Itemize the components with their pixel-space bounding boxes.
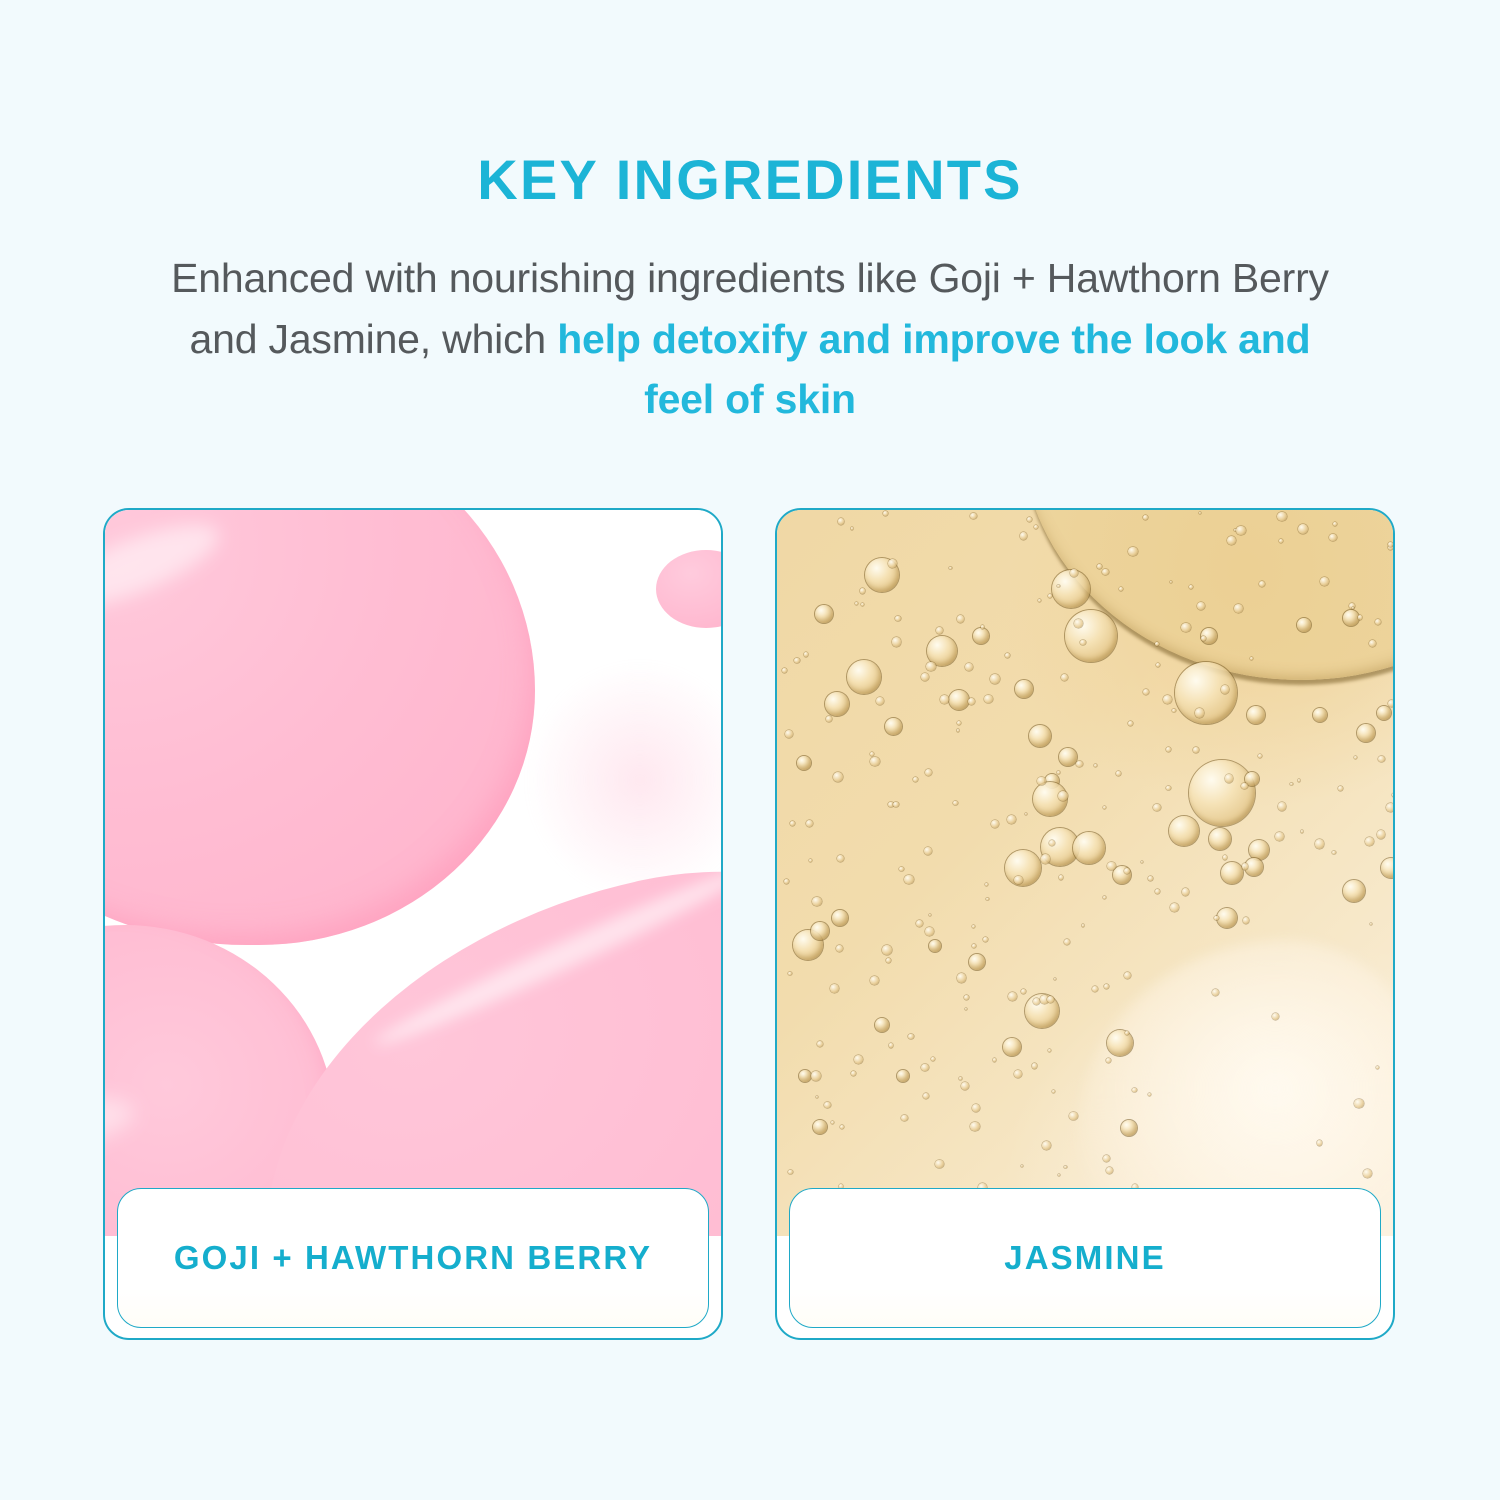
oil-bubble-small bbox=[1354, 756, 1357, 759]
oil-bubble-small bbox=[940, 695, 949, 704]
oil-bubble-small bbox=[831, 1121, 834, 1124]
ingredient-card-jasmine[interactable]: JASMINE bbox=[775, 508, 1395, 1340]
oil-bubble-small bbox=[921, 673, 929, 681]
oil-bubble-small bbox=[1365, 837, 1374, 846]
subtitle-highlight-text: help detoxify and improve the look and f… bbox=[557, 316, 1310, 423]
oil-bubble-small bbox=[861, 603, 865, 607]
oil-bubble-small bbox=[1025, 813, 1027, 815]
oil-bubble-small bbox=[882, 945, 892, 955]
oil-bubble bbox=[825, 692, 849, 716]
oil-bubble-small bbox=[1156, 663, 1160, 667]
oil-bubble-small bbox=[1103, 896, 1106, 899]
oil-bubble-small bbox=[1128, 547, 1138, 557]
oil-bubble-small bbox=[1104, 984, 1109, 989]
oil-bubble-small bbox=[972, 944, 976, 948]
oil-bubble-small bbox=[993, 1058, 997, 1062]
ingredient-image-goji-hawthorn-berry bbox=[105, 510, 721, 1236]
oil-bubble-small bbox=[1128, 721, 1133, 726]
oil-bubble-small bbox=[957, 721, 962, 726]
oil-bubble-small bbox=[1386, 803, 1393, 812]
oil-bubble-small bbox=[1014, 876, 1022, 884]
oil-bubble-small bbox=[1370, 923, 1372, 925]
oil-bubble-small bbox=[1005, 653, 1010, 658]
oil-bubble-small bbox=[925, 927, 934, 936]
oil-bubble-small bbox=[970, 1122, 979, 1131]
oil-bubble-small bbox=[1153, 804, 1161, 812]
oil-bubble bbox=[797, 756, 811, 770]
oil-bubble-small bbox=[817, 1041, 824, 1048]
oil-bubble-small bbox=[1064, 1166, 1067, 1169]
oil-bubble-small bbox=[1052, 1090, 1055, 1093]
oil-bubble-small bbox=[957, 615, 964, 622]
oil-bubble-small bbox=[837, 855, 844, 862]
oil-bubble-small bbox=[957, 729, 960, 732]
oil-bubble-small bbox=[1298, 524, 1308, 534]
oil-bubble bbox=[832, 910, 848, 926]
oil-bubble-small bbox=[1125, 1031, 1129, 1035]
oil-bubble-small bbox=[1377, 830, 1385, 838]
oil-bubble-small bbox=[1008, 992, 1017, 1001]
oil-bubble-small bbox=[1214, 916, 1218, 920]
oil-bubble-small bbox=[1020, 532, 1027, 539]
oil-bubble bbox=[815, 605, 833, 623]
oil-bubble-small bbox=[816, 1096, 818, 1098]
oil-bubble bbox=[847, 660, 881, 694]
oil-bubble-small bbox=[809, 859, 812, 862]
oil-bubble-small bbox=[1027, 517, 1032, 522]
oil-bubble-small bbox=[1048, 1049, 1051, 1052]
oil-bubble bbox=[1209, 828, 1231, 850]
oil-bubble-small bbox=[812, 897, 822, 907]
oil-bubble-small bbox=[826, 716, 832, 722]
oil-bubble-small bbox=[1074, 619, 1083, 628]
oil-bubble-small bbox=[961, 1082, 969, 1090]
oil-bubble-small bbox=[926, 662, 936, 672]
oil-bubble-small bbox=[1166, 747, 1171, 752]
oil-bubble-small bbox=[1388, 542, 1393, 547]
oil-bubble-small bbox=[870, 976, 879, 985]
oil-bubble-small bbox=[1352, 607, 1354, 609]
oil-bubble-small bbox=[806, 820, 814, 828]
oil-bubble-small bbox=[970, 513, 976, 519]
oil-bubble-small bbox=[908, 1034, 914, 1040]
oil-bubble-small bbox=[790, 821, 795, 826]
oil-bubble-small bbox=[1227, 536, 1236, 545]
oil-bubble-small bbox=[916, 920, 923, 927]
oil-bubble bbox=[1343, 610, 1359, 626]
oil-bubble-small bbox=[983, 937, 988, 942]
oil-bubble-small bbox=[990, 674, 1000, 684]
oil-bubble-small bbox=[1172, 709, 1175, 712]
oil-bubble-small bbox=[949, 567, 952, 570]
oil-bubble-small bbox=[964, 995, 969, 1000]
oil-bubble-small bbox=[870, 757, 879, 766]
oil-bubble-small bbox=[788, 972, 792, 976]
oil-bubble bbox=[973, 628, 989, 644]
oil-bubble-small bbox=[1155, 889, 1160, 894]
oil-bubble-small bbox=[965, 1008, 967, 1010]
oil-bubble bbox=[969, 954, 985, 970]
oil-bubble-small bbox=[1212, 989, 1219, 996]
page-title: KEY INGREDIENTS bbox=[0, 0, 1500, 208]
oil-bubble bbox=[799, 1070, 811, 1082]
oil-bubble-small bbox=[895, 616, 901, 622]
oil-bubble bbox=[1029, 725, 1051, 747]
oil-bubble-small bbox=[1221, 685, 1230, 694]
oil-bubble-small bbox=[899, 867, 904, 872]
oil-bubble-small bbox=[1041, 854, 1051, 864]
oil-bubble-small bbox=[1007, 815, 1016, 824]
oil-bubble-small bbox=[1061, 674, 1068, 681]
oil-bubble-small bbox=[1277, 512, 1287, 522]
oil-bubble bbox=[1065, 610, 1117, 662]
oil-bubble-small bbox=[1021, 1165, 1023, 1167]
oil-bubble-small bbox=[1242, 863, 1248, 869]
oil-bubble bbox=[813, 1120, 827, 1134]
oil-bubble-small bbox=[1034, 525, 1038, 529]
oil-bubble-small bbox=[953, 801, 958, 806]
oil-bubble-small bbox=[854, 1055, 863, 1064]
oil-bubble-small bbox=[1181, 623, 1190, 632]
oil-bubble bbox=[1003, 1038, 1021, 1056]
oil-bubble-small bbox=[1048, 594, 1052, 598]
oil-bubble-small bbox=[1278, 802, 1287, 811]
oil-bubble-small bbox=[851, 527, 854, 530]
ingredient-card-list: GOJI + HAWTHORN BERRY JASMINE bbox=[103, 508, 1399, 1342]
oil-bubble-small bbox=[1107, 862, 1116, 871]
oil-bubble bbox=[1381, 858, 1393, 878]
oil-bubble-small bbox=[921, 1064, 929, 1072]
oil-bubble-small bbox=[925, 769, 932, 776]
oil-bubble-small bbox=[1064, 939, 1070, 945]
oil-bubble bbox=[1377, 706, 1391, 720]
oil-bubble-small bbox=[1354, 1099, 1364, 1109]
oil-bubble bbox=[897, 1070, 909, 1082]
oil-bubble-small bbox=[936, 627, 943, 634]
oil-bubble-small bbox=[991, 820, 999, 828]
oil-bubble-small bbox=[1236, 526, 1246, 536]
oil-bubble-small bbox=[1301, 830, 1304, 833]
oil-bubble bbox=[1073, 832, 1105, 864]
oil-bubble-small bbox=[1143, 689, 1150, 696]
oil-bubble-small bbox=[1069, 1112, 1078, 1121]
oil-bubble bbox=[1247, 706, 1265, 724]
ingredient-label-plate-jasmine: JASMINE bbox=[789, 1188, 1381, 1328]
oil-bubble bbox=[1343, 880, 1365, 902]
oil-bubble-small bbox=[1054, 978, 1057, 981]
oil-bubble-small bbox=[957, 973, 967, 983]
oil-bubble-small bbox=[1037, 777, 1046, 786]
oil-bubble-small bbox=[1057, 771, 1060, 774]
oil-bubble bbox=[1217, 908, 1237, 928]
oil-bubble-small bbox=[1332, 851, 1335, 854]
oil-bubble bbox=[1169, 816, 1199, 846]
oil-bubble-small bbox=[913, 777, 918, 782]
oil-bubble-small bbox=[959, 1077, 962, 1080]
oil-bubble-small bbox=[1259, 581, 1265, 587]
oil-bubble-small bbox=[855, 602, 858, 605]
oil-bubble-small bbox=[876, 697, 885, 706]
oil-bubble bbox=[1107, 1030, 1133, 1056]
oil-bubble-small bbox=[1021, 989, 1026, 994]
oil-bubble-small bbox=[782, 668, 787, 673]
oil-bubble bbox=[949, 690, 969, 710]
oil-bubble-small bbox=[924, 847, 932, 855]
oil-bubble-small bbox=[1392, 793, 1393, 797]
ingredient-card-goji-hawthorn-berry[interactable]: GOJI + HAWTHORN BERRY bbox=[103, 508, 723, 1340]
oil-bubble bbox=[1189, 760, 1255, 826]
oil-bubble-small bbox=[1080, 640, 1085, 645]
pink-droplet-top-right bbox=[656, 550, 721, 628]
oil-bubble-small bbox=[984, 695, 992, 703]
oil-bubble-small bbox=[1317, 1140, 1323, 1146]
page-subtitle: Enhanced with nourishing ingredients lik… bbox=[170, 208, 1330, 430]
oil-bubble bbox=[1005, 850, 1041, 886]
oil-bubble-small bbox=[1082, 924, 1085, 927]
oil-bubble-small bbox=[1375, 619, 1381, 625]
oil-bubble-small bbox=[1290, 783, 1292, 785]
oil-bubble-small bbox=[788, 1170, 793, 1175]
oil-bubble-small bbox=[1243, 917, 1250, 924]
oil-bubble-small bbox=[1014, 1070, 1022, 1078]
oil-bubble-small bbox=[1163, 695, 1172, 704]
oil-bubble-small bbox=[892, 637, 902, 647]
oil-bubble-small bbox=[1102, 569, 1109, 576]
oil-bubble-small bbox=[1058, 791, 1068, 801]
oil-bubble bbox=[929, 940, 941, 952]
oil-bubble-small bbox=[1141, 861, 1143, 863]
oil-bubble-small bbox=[972, 925, 975, 928]
oil-bubble-small bbox=[1298, 779, 1301, 782]
oil-bubble bbox=[1175, 662, 1237, 724]
oil-bubble-small bbox=[965, 663, 973, 671]
oil-bubble-small bbox=[1038, 599, 1041, 602]
ingredient-label-text: JASMINE bbox=[1004, 1239, 1165, 1277]
oil-bubble bbox=[1015, 680, 1033, 698]
oil-bubble-small bbox=[1258, 754, 1262, 758]
oil-bubble-small bbox=[1042, 1141, 1051, 1150]
oil-bubble-small bbox=[985, 883, 988, 886]
oil-bubble bbox=[1297, 618, 1311, 632]
oil-bubble-small bbox=[785, 730, 794, 739]
oil-bubble bbox=[1313, 708, 1327, 722]
oil-bubble bbox=[1249, 840, 1269, 860]
oil-bubble-small bbox=[851, 1071, 856, 1076]
oil-bubble-small bbox=[1143, 515, 1148, 520]
oil-bubble-small bbox=[1275, 832, 1284, 841]
oil-bubble-small bbox=[893, 802, 899, 808]
oil-bubble-small bbox=[1378, 756, 1385, 763]
oil-bubble bbox=[811, 922, 829, 940]
oil-bubble-small bbox=[838, 518, 844, 524]
oil-bubble bbox=[885, 718, 902, 735]
oil-bubble-small bbox=[972, 1104, 980, 1112]
oil-bubble-small bbox=[1058, 1174, 1060, 1176]
oil-bubble-small bbox=[883, 511, 889, 517]
oil-bubble-small bbox=[836, 945, 843, 952]
oil-bubble-small bbox=[1116, 771, 1121, 776]
oil-bubble-small bbox=[794, 658, 799, 663]
oil-bubble-small bbox=[1166, 786, 1171, 791]
oil-bubble-small bbox=[1076, 761, 1083, 768]
ingredient-label-plate-goji-hawthorn-berry: GOJI + HAWTHORN BERRY bbox=[117, 1188, 709, 1328]
oil-bubble-small bbox=[1092, 986, 1099, 993]
golden-oil-artwork bbox=[777, 510, 1393, 1236]
oil-bubble-small bbox=[1103, 806, 1107, 810]
pink-gel-artwork bbox=[105, 510, 721, 1236]
oil-bubble-small bbox=[1315, 839, 1325, 849]
oil-bubble bbox=[1221, 862, 1243, 884]
oil-bubble-small bbox=[935, 1160, 944, 1169]
oil-bubble-small bbox=[968, 698, 975, 705]
ingredient-image-jasmine bbox=[777, 510, 1393, 1236]
oil-bubble-small bbox=[1097, 564, 1102, 569]
oil-bubble-small bbox=[860, 588, 866, 594]
oil-bubble-small bbox=[1119, 587, 1123, 591]
oil-bubble-small bbox=[904, 875, 914, 885]
oil-bubble-small bbox=[931, 1057, 935, 1061]
oil-bubble-small bbox=[929, 914, 931, 916]
oil-bubble-small bbox=[1094, 764, 1097, 767]
oil-bubble-small bbox=[886, 958, 891, 963]
oil-bubble-small bbox=[1057, 585, 1060, 588]
header: KEY INGREDIENTS Enhanced with nourishing… bbox=[0, 0, 1500, 430]
oil-bubble-small bbox=[1234, 604, 1243, 613]
oil-bubble-small bbox=[1032, 1063, 1038, 1069]
oil-bubble-small bbox=[1193, 747, 1199, 753]
oil-bubble-small bbox=[1059, 875, 1064, 880]
oil-bubble-small bbox=[1170, 581, 1172, 583]
oil-bubble-small bbox=[824, 1102, 831, 1109]
oil-bubble-small bbox=[1388, 700, 1393, 707]
oil-bubble-small bbox=[1124, 972, 1131, 979]
oil-bubble-small bbox=[840, 1125, 844, 1129]
oil-bubble-small bbox=[804, 652, 809, 657]
oil-bubble-small bbox=[830, 984, 839, 993]
oil-bubble-small bbox=[1223, 855, 1228, 860]
oil-bubble-small bbox=[1338, 786, 1343, 791]
pink-mist-decoration bbox=[525, 660, 721, 900]
ingredient-label-text: GOJI + HAWTHORN BERRY bbox=[174, 1239, 652, 1277]
oil-bubble-small bbox=[784, 879, 789, 884]
oil-bubble-small bbox=[901, 1115, 908, 1122]
oil-bubble bbox=[1059, 748, 1077, 766]
oil-bubble-small bbox=[833, 772, 843, 782]
oil-bubble bbox=[875, 1018, 889, 1032]
oil-bubble-small bbox=[889, 1043, 894, 1048]
oil-bubble-small bbox=[1225, 774, 1233, 782]
oil-bubble-small bbox=[811, 1071, 821, 1081]
oil-bubble-small bbox=[1148, 876, 1153, 881]
oil-bubble-small bbox=[870, 752, 874, 756]
oil-bubble-small bbox=[986, 898, 989, 901]
oil-bubble bbox=[1357, 724, 1375, 742]
oil-bubble-small bbox=[923, 1093, 929, 1099]
oil-bubble-small bbox=[1170, 903, 1179, 912]
oil-bubble-small bbox=[1182, 888, 1190, 896]
oil-bubble bbox=[1121, 1120, 1137, 1136]
